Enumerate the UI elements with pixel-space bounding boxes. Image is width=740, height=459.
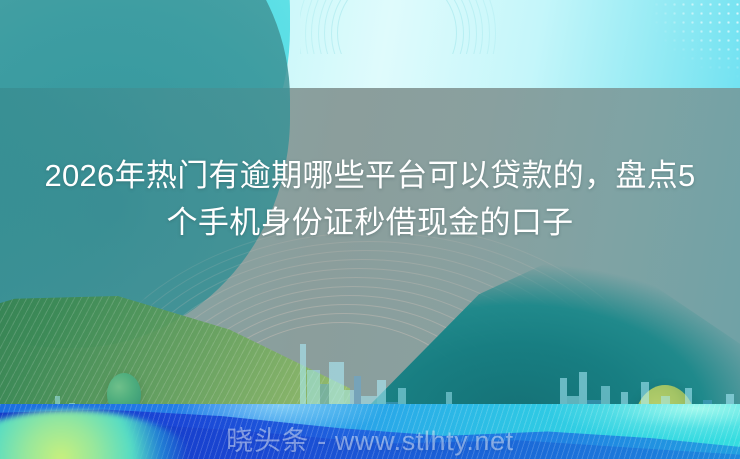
poster-canvas: 2026年热门有逾期哪些平台可以贷款的，盘点5个手机身份证秒借现金的口子 晓头条… (0, 0, 740, 459)
halftone-dots-top-right (580, 0, 740, 92)
concentric-arcs-top-icon (300, 0, 510, 54)
page-title: 2026年热门有逾期哪些平台可以贷款的，盘点5个手机身份证秒借现金的口子 (44, 152, 696, 246)
site-watermark: 晓头条 - www.stlhty.net (0, 419, 740, 458)
